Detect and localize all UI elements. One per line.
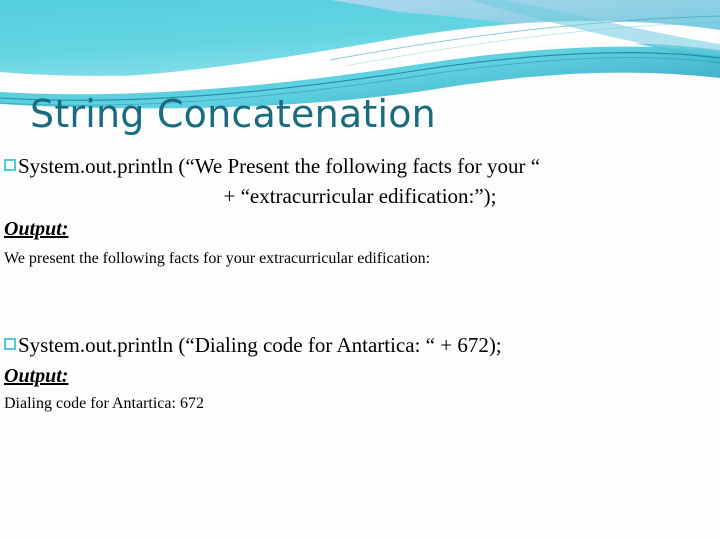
section-spacer (0, 269, 720, 331)
page-title: String Concatenation (30, 92, 436, 136)
hollow-square-bullet-icon (4, 159, 16, 171)
output-label: Output: (0, 365, 68, 388)
code-output-block-1: System.out.println (“We Present the foll… (0, 152, 720, 269)
hollow-square-bullet-icon (4, 338, 16, 350)
code-continuation-line: + “extracurricular edification:”); (0, 182, 720, 212)
code-output-block-2: System.out.println (“Dialing code for An… (0, 331, 720, 415)
slide: String Concatenation System.out.println … (0, 0, 720, 540)
output-label: Output: (0, 218, 68, 241)
code-statement-line: System.out.println (“Dialing code for An… (0, 331, 720, 361)
output-result-text: Dialing code for Antartica: 672 (0, 394, 720, 415)
code-text: System.out.println (“We Present the foll… (18, 154, 540, 178)
code-text: System.out.println (“Dialing code for An… (18, 333, 502, 357)
code-statement-line: System.out.println (“We Present the foll… (0, 152, 720, 182)
output-result-text: We present the following facts for your … (0, 249, 720, 270)
slide-body: System.out.println (“We Present the foll… (0, 152, 720, 415)
code-text-continued: + “extracurricular edification:”); (223, 184, 496, 208)
